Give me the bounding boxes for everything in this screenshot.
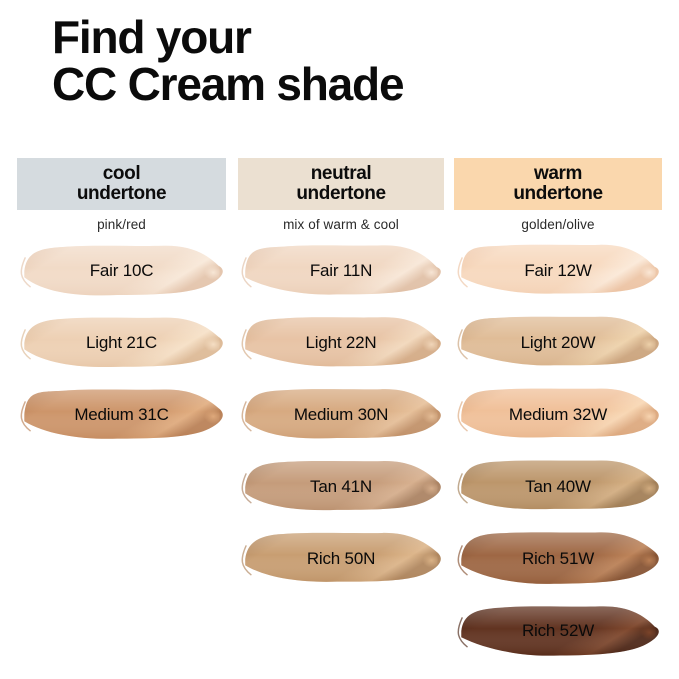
shade-name-label: Rich 50N bbox=[307, 549, 375, 569]
shade-swatch[interactable]: Rich 51W bbox=[454, 528, 662, 590]
shade-swatch[interactable]: Light 20W bbox=[454, 312, 662, 374]
header-line2-cool: undertone bbox=[77, 184, 166, 204]
shade-swatch[interactable]: Tan 40W bbox=[454, 456, 662, 518]
shade-name-label: Tan 40W bbox=[525, 477, 591, 497]
shade-swatch[interactable]: Fair 12W bbox=[454, 240, 662, 302]
column-cool: coolundertonepink/red Fair 10C bbox=[17, 158, 226, 456]
shade-name-label: Rich 51W bbox=[522, 549, 594, 569]
swatch-list-neutral: Fair 11N Light 22N bbox=[238, 240, 444, 590]
header-band-warm: warmundertone bbox=[454, 158, 662, 210]
header-line2-neutral: undertone bbox=[296, 184, 385, 204]
column-warm: warmundertonegolden/olive Fair 12 bbox=[454, 158, 662, 672]
shade-swatch[interactable]: Medium 30N bbox=[238, 384, 444, 446]
shade-name-label: Fair 12W bbox=[524, 261, 591, 281]
shade-name-label: Medium 32W bbox=[509, 405, 607, 425]
shade-name-label: Light 22N bbox=[306, 333, 377, 353]
shade-columns: coolundertonepink/red Fair 10C bbox=[0, 158, 679, 678]
header-band-neutral: neutralundertone bbox=[238, 158, 444, 210]
shade-swatch[interactable]: Rich 52W bbox=[454, 600, 662, 662]
shade-name-label: Medium 30N bbox=[294, 405, 388, 425]
header-line2-warm: undertone bbox=[513, 184, 602, 204]
column-neutral: neutralundertonemix of warm & cool bbox=[238, 158, 444, 600]
shade-swatch[interactable]: Light 22N bbox=[238, 312, 444, 374]
subtitle-cool: pink/red bbox=[17, 210, 226, 240]
shade-name-label: Light 20W bbox=[521, 333, 596, 353]
header-line1-neutral: neutral bbox=[311, 164, 372, 184]
shade-swatch[interactable]: Fair 10C bbox=[17, 240, 226, 302]
shade-swatch[interactable]: Medium 31C bbox=[17, 384, 226, 446]
shade-swatch[interactable]: Tan 41N bbox=[238, 456, 444, 518]
subtitle-warm: golden/olive bbox=[454, 210, 662, 240]
shade-name-label: Rich 52W bbox=[522, 621, 594, 641]
subtitle-neutral: mix of warm & cool bbox=[238, 210, 444, 240]
page-title: Find your CC Cream shade bbox=[52, 14, 652, 109]
shade-name-label: Fair 11N bbox=[310, 261, 372, 281]
shade-swatch[interactable]: Light 21C bbox=[17, 312, 226, 374]
shade-swatch[interactable]: Rich 50N bbox=[238, 528, 444, 590]
shade-name-label: Light 21C bbox=[86, 333, 157, 353]
shade-swatch[interactable]: Fair 11N bbox=[238, 240, 444, 302]
shade-swatch[interactable]: Medium 32W bbox=[454, 384, 662, 446]
swatch-list-cool: Fair 10C Light 21C bbox=[17, 240, 226, 446]
shade-name-label: Medium 31C bbox=[74, 405, 168, 425]
header-band-cool: coolundertone bbox=[17, 158, 226, 210]
shade-name-label: Fair 10C bbox=[90, 261, 154, 281]
swatch-list-warm: Fair 12W Light 20W bbox=[454, 240, 662, 662]
header-line1-warm: warm bbox=[534, 164, 582, 184]
header-line1-cool: cool bbox=[103, 164, 140, 184]
shade-name-label: Tan 41N bbox=[310, 477, 372, 497]
